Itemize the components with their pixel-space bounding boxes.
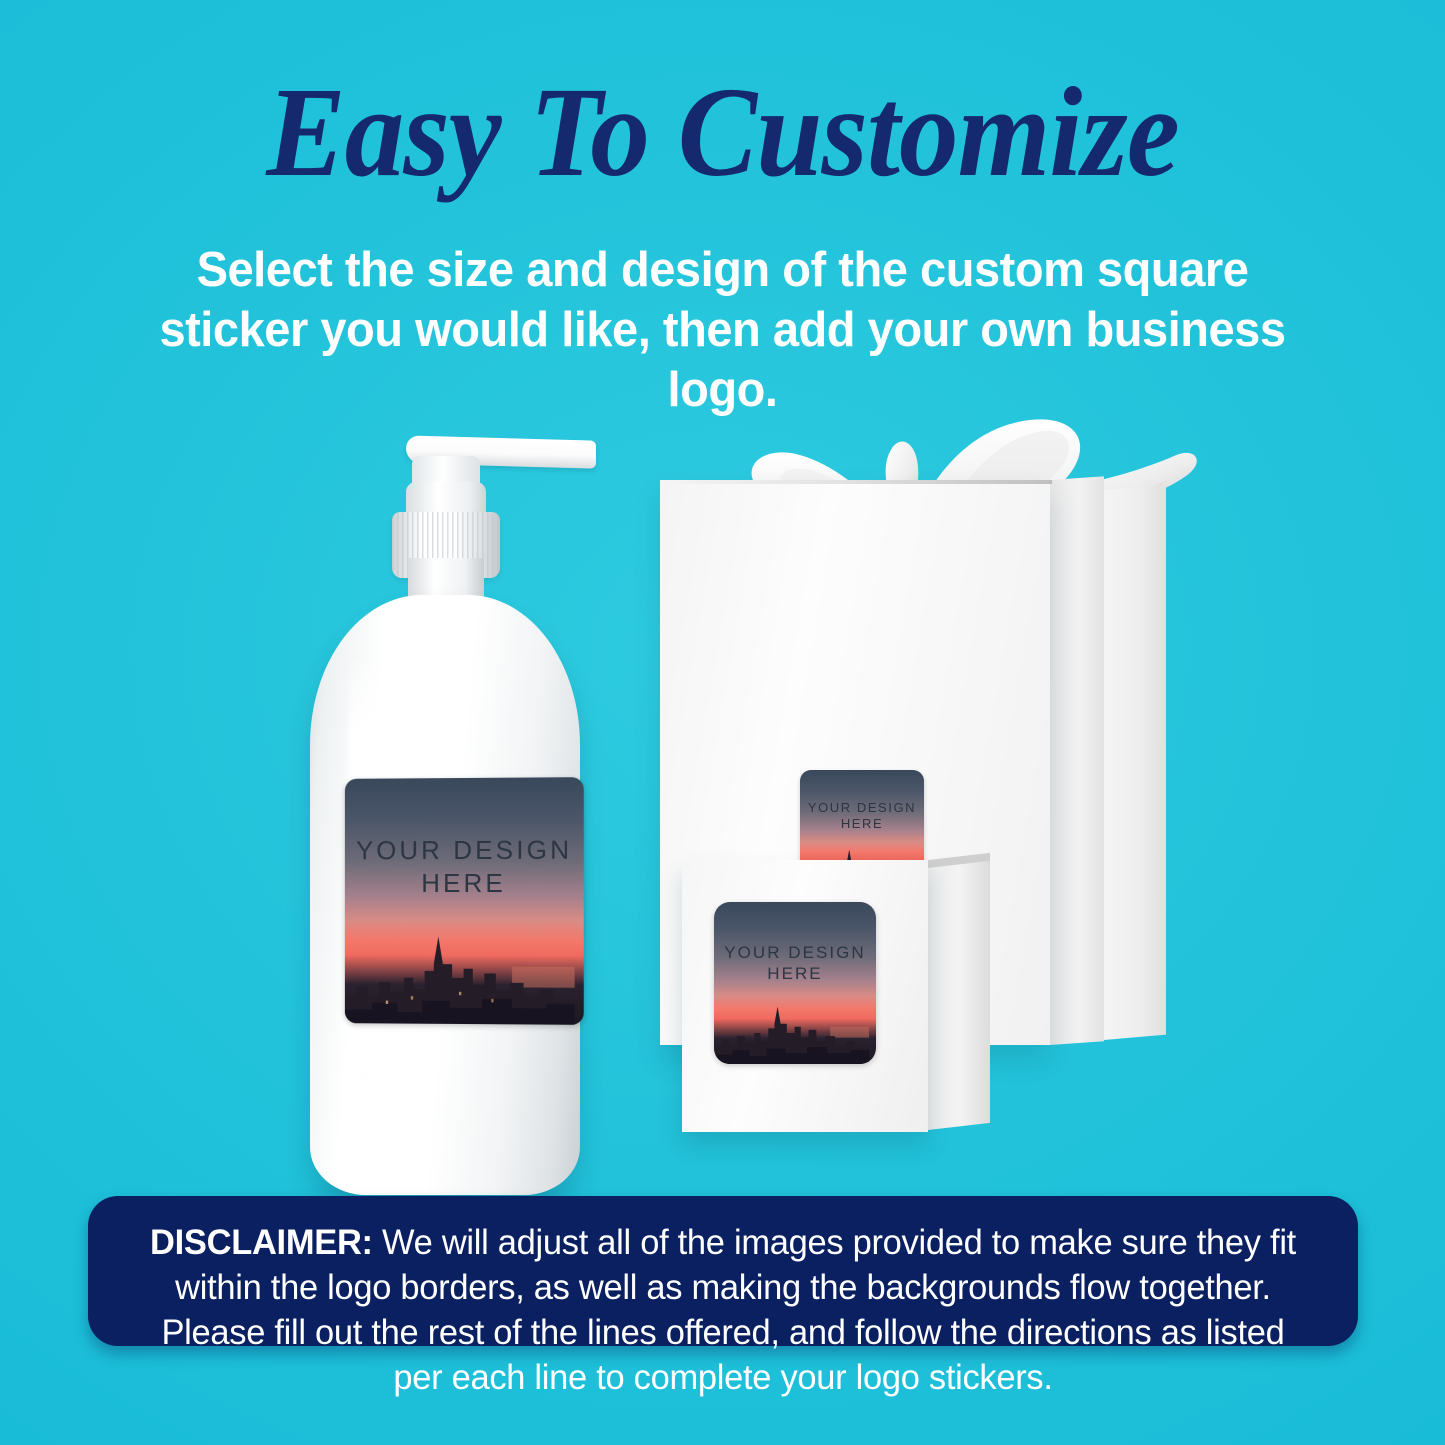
disclaimer-label: DISCLAIMER: xyxy=(150,1223,373,1262)
sticker-text-smallbox: YOUR DESIGN HERE xyxy=(714,942,876,985)
product-scene: YOUR DESIGN HERE YOUR DESIGN HERE xyxy=(0,380,1445,1200)
pump-bottle: YOUR DESIGN HERE xyxy=(300,420,590,1210)
sticker-on-small-box[interactable]: YOUR DESIGN HERE xyxy=(714,902,876,1064)
small-box-side-panel xyxy=(928,857,990,1130)
page-title: Easy To Customize xyxy=(51,68,1395,196)
small-box: YOUR DESIGN HERE xyxy=(682,860,992,1150)
gift-box-lid-seam xyxy=(660,480,1052,484)
sticker-text-bottle: YOUR DESIGN HERE xyxy=(345,834,584,899)
city-skyline-icon xyxy=(714,1002,869,1064)
gift-box-back-panel xyxy=(1104,485,1166,1040)
disclaimer-box: DISCLAIMER: We will adjust all of the im… xyxy=(88,1196,1358,1346)
sticker-on-bottle[interactable]: YOUR DESIGN HERE xyxy=(345,777,584,1025)
sticker-text-giftbox: YOUR DESIGN HERE xyxy=(800,800,924,833)
gift-box-side-panel xyxy=(1050,476,1104,1045)
city-skyline-icon xyxy=(345,932,575,1025)
promo-poster: Easy To Customize Select the size and de… xyxy=(0,0,1445,1445)
disclaimer-text: DISCLAIMER: We will adjust all of the im… xyxy=(137,1220,1309,1400)
